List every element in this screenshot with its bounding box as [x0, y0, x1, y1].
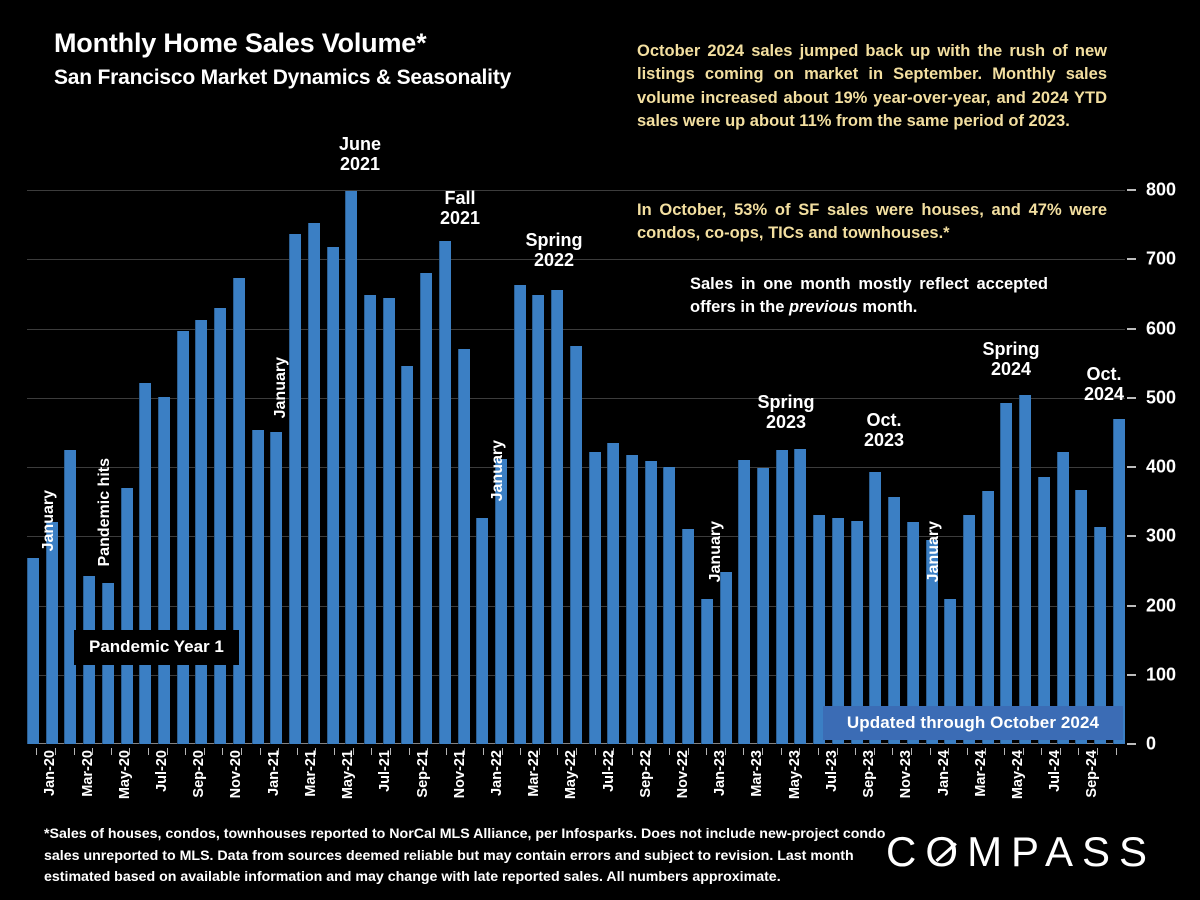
bar-Dec-22[interactable]: [682, 529, 694, 744]
bar-Jun-23[interactable]: [794, 449, 806, 744]
x-tick-label-Sep-21: Sep-21: [415, 750, 431, 798]
x-tick-Sep-20: [185, 748, 186, 755]
x-tick-label-May-23: May-23: [787, 750, 803, 799]
x-tick-label-Sep-24: Sep-24: [1084, 750, 1100, 798]
x-tick-Sep-23: [855, 748, 856, 755]
x-tick-May-24: [1004, 748, 1005, 755]
x-tick-Jan-24: [930, 748, 931, 755]
bar-Jul-20[interactable]: [139, 383, 151, 744]
y-tick-700: [1127, 258, 1136, 260]
y-tick-label-100: 100: [1146, 664, 1176, 685]
x-tick-Mar-22: [520, 748, 521, 755]
x-tick-label-Mar-20: Mar-20: [80, 750, 96, 797]
bar-Oct-23[interactable]: [869, 472, 881, 744]
x-tick-Jul-23: [818, 748, 819, 755]
x-tick-label-Jul-20: Jul-20: [154, 750, 170, 792]
logo-letter-o-slashed: O: [925, 828, 967, 876]
x-tick-label-Jan-21: Jan-21: [266, 750, 282, 796]
x-tick-label-Jul-24: Jul-24: [1047, 750, 1063, 792]
bar-Jun-21[interactable]: [345, 191, 357, 744]
bar-Sep-22[interactable]: [626, 455, 638, 744]
x-tick-Nov-22: [669, 748, 670, 755]
bar-Oct-22[interactable]: [645, 461, 657, 744]
x-tick-Mar-20: [74, 748, 75, 755]
x-tick-May-21: [334, 748, 335, 755]
y-tick-0: [1127, 743, 1136, 745]
x-tick-Jul-22: [595, 748, 596, 755]
bar-May-23[interactable]: [776, 450, 788, 744]
bar-Jan-23[interactable]: [701, 599, 713, 744]
bar-Nov-21[interactable]: [439, 241, 451, 744]
bar-Feb-23[interactable]: [720, 572, 732, 744]
x-tick-Sep-22: [632, 748, 633, 755]
x-tick-label-Nov-21: Nov-21: [452, 750, 468, 798]
y-tick-200: [1127, 605, 1136, 607]
callout-january-2024: January: [925, 521, 943, 582]
bar-Mar-20[interactable]: [64, 450, 76, 744]
x-tick-label-Nov-23: Nov-23: [898, 750, 914, 798]
bar-Jun-24[interactable]: [1019, 395, 1031, 744]
x-tick-Jul-24: [1041, 748, 1042, 755]
y-tick-label-0: 0: [1146, 734, 1156, 755]
bar-Aug-24[interactable]: [1057, 452, 1069, 744]
x-tick-label-May-20: May-20: [117, 750, 133, 799]
bar-Jan-20[interactable]: [27, 558, 39, 744]
bar-Oct-20[interactable]: [195, 320, 207, 745]
callout-pandemic-year-1: Pandemic Year 1: [74, 630, 239, 665]
x-tick-label-Sep-22: Sep-22: [638, 750, 654, 798]
logo-text: COMPASS: [886, 828, 1156, 876]
x-tick-label-May-24: May-24: [1010, 750, 1026, 799]
bar-Mar-23[interactable]: [738, 460, 750, 744]
bar-Jun-20[interactable]: [121, 488, 133, 744]
bar-Jul-21[interactable]: [364, 295, 376, 744]
x-tick-label-Jan-23: Jan-23: [712, 750, 728, 796]
bar-Apr-22[interactable]: [532, 295, 544, 744]
x-tick-Jan-23: [706, 748, 707, 755]
x-tick-label-Jul-21: Jul-21: [377, 750, 393, 792]
x-tick-Jan-20: [36, 748, 37, 755]
x-tick-label-Nov-20: Nov-20: [228, 750, 244, 798]
x-tick-label-Jan-20: Jan-20: [42, 750, 58, 796]
bar-Jul-22[interactable]: [589, 452, 601, 744]
x-tick-May-22: [557, 748, 558, 755]
compass-logo: COMPASS: [886, 828, 1156, 876]
bar-Aug-20[interactable]: [158, 397, 170, 744]
x-tick-Jan-21: [260, 748, 261, 755]
footnote: *Sales of houses, condos, townhouses rep…: [44, 824, 894, 889]
y-tick-label-200: 200: [1146, 595, 1176, 616]
bar-Apr-21[interactable]: [308, 223, 320, 744]
x-axis: Jan-20Mar-20May-20Jul-20Sep-20Nov-20Jan-…: [27, 748, 1125, 823]
x-tick-label-Jul-22: Jul-22: [601, 750, 617, 792]
x-tick-undefined: [1116, 748, 1117, 755]
callout-spring-2023: Spring2023: [740, 392, 832, 432]
bar-Nov-22[interactable]: [663, 467, 675, 744]
x-tick-label-Jul-23: Jul-23: [824, 750, 840, 792]
bar-Feb-20[interactable]: [46, 522, 58, 744]
y-tick-label-800: 800: [1146, 180, 1176, 201]
y-tick-label-500: 500: [1146, 387, 1176, 408]
x-tick-May-23: [781, 748, 782, 755]
callout-pandemic-hits: Pandemic hits: [96, 458, 114, 566]
x-tick-Jul-20: [148, 748, 149, 755]
x-tick-label-May-22: May-22: [563, 750, 579, 799]
page-title: Monthly Home Sales Volume*: [54, 28, 426, 59]
bar-May-24[interactable]: [1000, 403, 1012, 744]
logo-letters-rest: MPASS: [967, 828, 1156, 875]
bar-Mar-21[interactable]: [289, 234, 301, 744]
x-tick-Mar-23: [743, 748, 744, 755]
x-tick-label-Sep-20: Sep-20: [191, 750, 207, 798]
x-tick-Jan-22: [483, 748, 484, 755]
updated-through-badge: Updated through October 2024: [823, 706, 1123, 740]
x-tick-Sep-21: [409, 748, 410, 755]
bar-Nov-20[interactable]: [214, 308, 226, 744]
chart-page: Monthly Home Sales Volume* San Francisco…: [0, 0, 1200, 900]
bar-Jan-21[interactable]: [252, 430, 264, 744]
callout-oct-2023: Oct.2023: [842, 410, 926, 450]
x-tick-label-Mar-23: Mar-23: [749, 750, 765, 797]
callout-january-2022: January: [489, 440, 507, 501]
y-tick-label-300: 300: [1146, 526, 1176, 547]
callout-january-2021: January: [272, 357, 290, 418]
y-tick-100: [1127, 674, 1136, 676]
bar-Oct-21[interactable]: [420, 273, 432, 744]
x-tick-Sep-24: [1078, 748, 1079, 755]
x-tick-label-Mar-22: Mar-22: [526, 750, 542, 797]
bar-Feb-21[interactable]: [270, 432, 282, 744]
bar-Dec-21[interactable]: [458, 349, 470, 744]
callout-june-2021: June2021: [318, 134, 402, 174]
x-tick-Nov-20: [222, 748, 223, 755]
callout-january-2023: January: [707, 521, 725, 582]
bar-Jul-24[interactable]: [1038, 477, 1050, 744]
x-tick-label-Jan-24: Jan-24: [936, 750, 952, 796]
bar-May-21[interactable]: [327, 247, 339, 744]
logo-letter-c: C: [886, 828, 925, 875]
callout-fall-2021: Fall2021: [418, 188, 502, 228]
bar-Aug-21[interactable]: [383, 298, 395, 744]
y-tick-400: [1127, 466, 1136, 468]
callout-january-2020: January: [40, 490, 58, 551]
y-tick-300: [1127, 535, 1136, 537]
bar-Aug-22[interactable]: [607, 443, 619, 744]
y-tick-800: [1127, 189, 1136, 191]
x-tick-label-Mar-24: Mar-24: [973, 750, 989, 797]
y-tick-label-700: 700: [1146, 249, 1176, 270]
bar-Jan-22[interactable]: [476, 518, 488, 744]
x-tick-label-Sep-23: Sep-23: [861, 750, 877, 798]
callout-spring-2022: Spring2022: [508, 230, 600, 270]
x-tick-label-Jan-22: Jan-22: [489, 750, 505, 796]
x-tick-Jul-21: [371, 748, 372, 755]
commentary-note-1: October 2024 sales jumped back up with t…: [637, 40, 1107, 134]
x-tick-label-Nov-22: Nov-22: [675, 750, 691, 798]
x-tick-Nov-23: [892, 748, 893, 755]
bar-Jun-22[interactable]: [570, 346, 582, 744]
bar-Apr-23[interactable]: [757, 468, 769, 744]
page-subtitle: San Francisco Market Dynamics & Seasonal…: [54, 66, 511, 90]
x-tick-May-20: [111, 748, 112, 755]
y-tick-label-400: 400: [1146, 457, 1176, 478]
y-tick-label-600: 600: [1146, 318, 1176, 339]
bar-May-22[interactable]: [551, 290, 563, 744]
bar-Mar-22[interactable]: [514, 285, 526, 744]
y-tick-600: [1127, 328, 1136, 330]
bar-Sep-20[interactable]: [177, 331, 189, 744]
x-tick-label-May-21: May-21: [340, 750, 356, 799]
x-tick-Nov-21: [446, 748, 447, 755]
x-tick-Mar-24: [967, 748, 968, 755]
bar-Dec-20[interactable]: [233, 278, 245, 744]
x-tick-Mar-21: [297, 748, 298, 755]
bar-Feb-22[interactable]: [495, 459, 507, 744]
callout-spring-2024: Spring2024: [965, 339, 1057, 379]
y-tick-500: [1127, 397, 1136, 399]
x-tick-label-Mar-21: Mar-21: [303, 750, 319, 797]
bar-Sep-21[interactable]: [401, 366, 413, 744]
bar-undefined[interactable]: [1113, 419, 1125, 744]
